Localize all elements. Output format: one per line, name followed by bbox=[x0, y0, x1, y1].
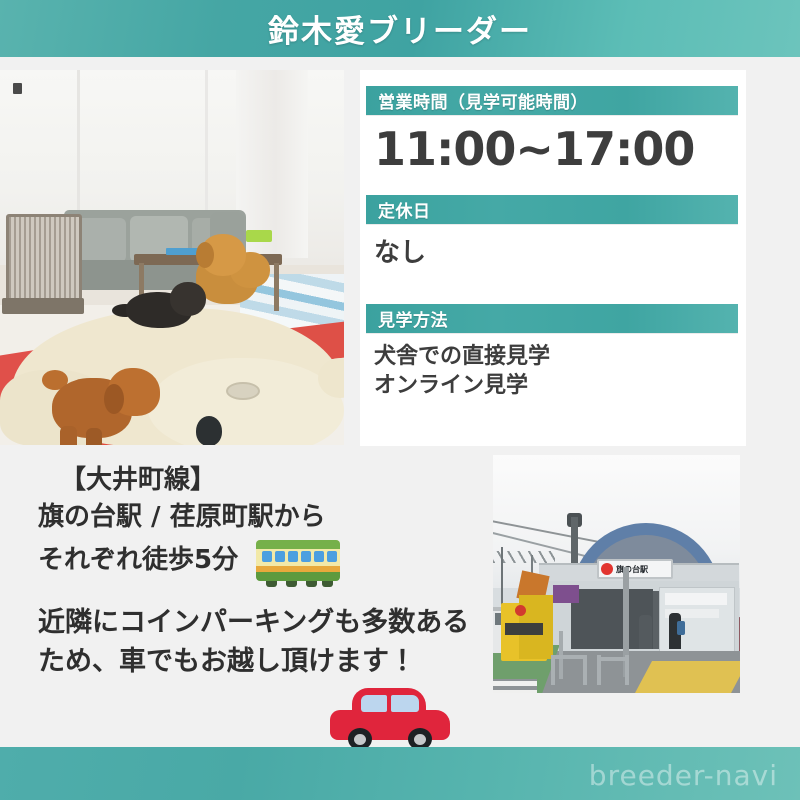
photo-guard-rail bbox=[551, 655, 585, 659]
access-line-stations: 旗の台駅 / 荏原町駅から bbox=[38, 499, 498, 536]
access-line-walk: それぞれ徒歩5分 bbox=[38, 536, 498, 586]
visit-method-value: 犬舎での直接見学 オンライン見学 bbox=[374, 342, 734, 400]
info-panel: 営業時間（見学可能時間） 11:00~17:00 定休日 なし 見学方法 犬舎で… bbox=[360, 70, 746, 446]
page-header: 鈴木愛ブリーダー bbox=[0, 0, 800, 57]
visit-method-line: オンライン見学 bbox=[374, 371, 734, 400]
watermark: breeder-navi bbox=[589, 759, 778, 792]
photo-kiosk-sign bbox=[665, 593, 727, 605]
visit-method-line: 犬舎での直接見学 bbox=[374, 342, 734, 371]
access-walk-text: それぞれ徒歩5分 bbox=[38, 542, 238, 579]
station-photo: 旗の台駅 bbox=[493, 455, 740, 693]
photo-puppy-brown bbox=[52, 358, 164, 445]
photo-wall-sensor bbox=[13, 83, 22, 94]
page-footer: breeder-navi bbox=[0, 747, 800, 800]
access-line-railway: 【大井町線】 bbox=[38, 462, 498, 499]
infographic-page: 鈴木愛ブリーダー bbox=[0, 0, 800, 800]
station-name-sign: 旗の台駅 bbox=[597, 559, 673, 579]
photo-guard-rail bbox=[597, 657, 627, 661]
parking-paragraph: 近隣にコインパーキングも多数あるため、車でもお越し頂けます！ bbox=[38, 604, 490, 682]
photo-display-board bbox=[553, 585, 579, 603]
photo-pylon bbox=[501, 547, 503, 605]
tokyu-logo-icon bbox=[601, 563, 613, 575]
photo-puppy-black bbox=[112, 282, 208, 334]
photo-cage-base bbox=[2, 298, 84, 314]
info-row-label-visit-method: 見学方法 bbox=[366, 304, 738, 333]
page-title: 鈴木愛ブリーダー bbox=[268, 6, 532, 51]
photo-crosswalk bbox=[493, 679, 537, 693]
photo-signal-light bbox=[515, 605, 526, 616]
red-car-icon bbox=[330, 684, 452, 750]
photo-signal-post bbox=[571, 517, 578, 569]
room-photo bbox=[0, 70, 344, 445]
info-row-label-holiday: 定休日 bbox=[366, 195, 738, 224]
photo-pedestrian bbox=[639, 615, 652, 649]
photo-tactile-paving bbox=[634, 661, 740, 693]
train-car-icon bbox=[252, 536, 344, 586]
hours-value: 11:00~17:00 bbox=[374, 122, 744, 176]
station-sign-text: 旗の台駅 bbox=[616, 564, 648, 575]
access-info: 【大井町線】 旗の台駅 / 荏原町駅から それぞれ徒歩5分 bbox=[38, 462, 498, 586]
photo-backpack bbox=[677, 621, 685, 635]
photo-dog-cage bbox=[6, 214, 82, 308]
photo-machine-detail bbox=[505, 623, 543, 635]
hours-label: 営業時間（見学可能時間） bbox=[366, 88, 588, 113]
photo-bear-cushion-nose bbox=[196, 416, 222, 445]
photo-bear-cushion-eye bbox=[226, 382, 260, 400]
holiday-label: 定休日 bbox=[366, 197, 431, 222]
visit-method-label: 見学方法 bbox=[366, 306, 448, 331]
info-row-label-hours: 営業時間（見学可能時間） bbox=[366, 86, 738, 115]
holiday-value: なし bbox=[374, 232, 426, 269]
photo-puppy-tan bbox=[196, 234, 276, 306]
